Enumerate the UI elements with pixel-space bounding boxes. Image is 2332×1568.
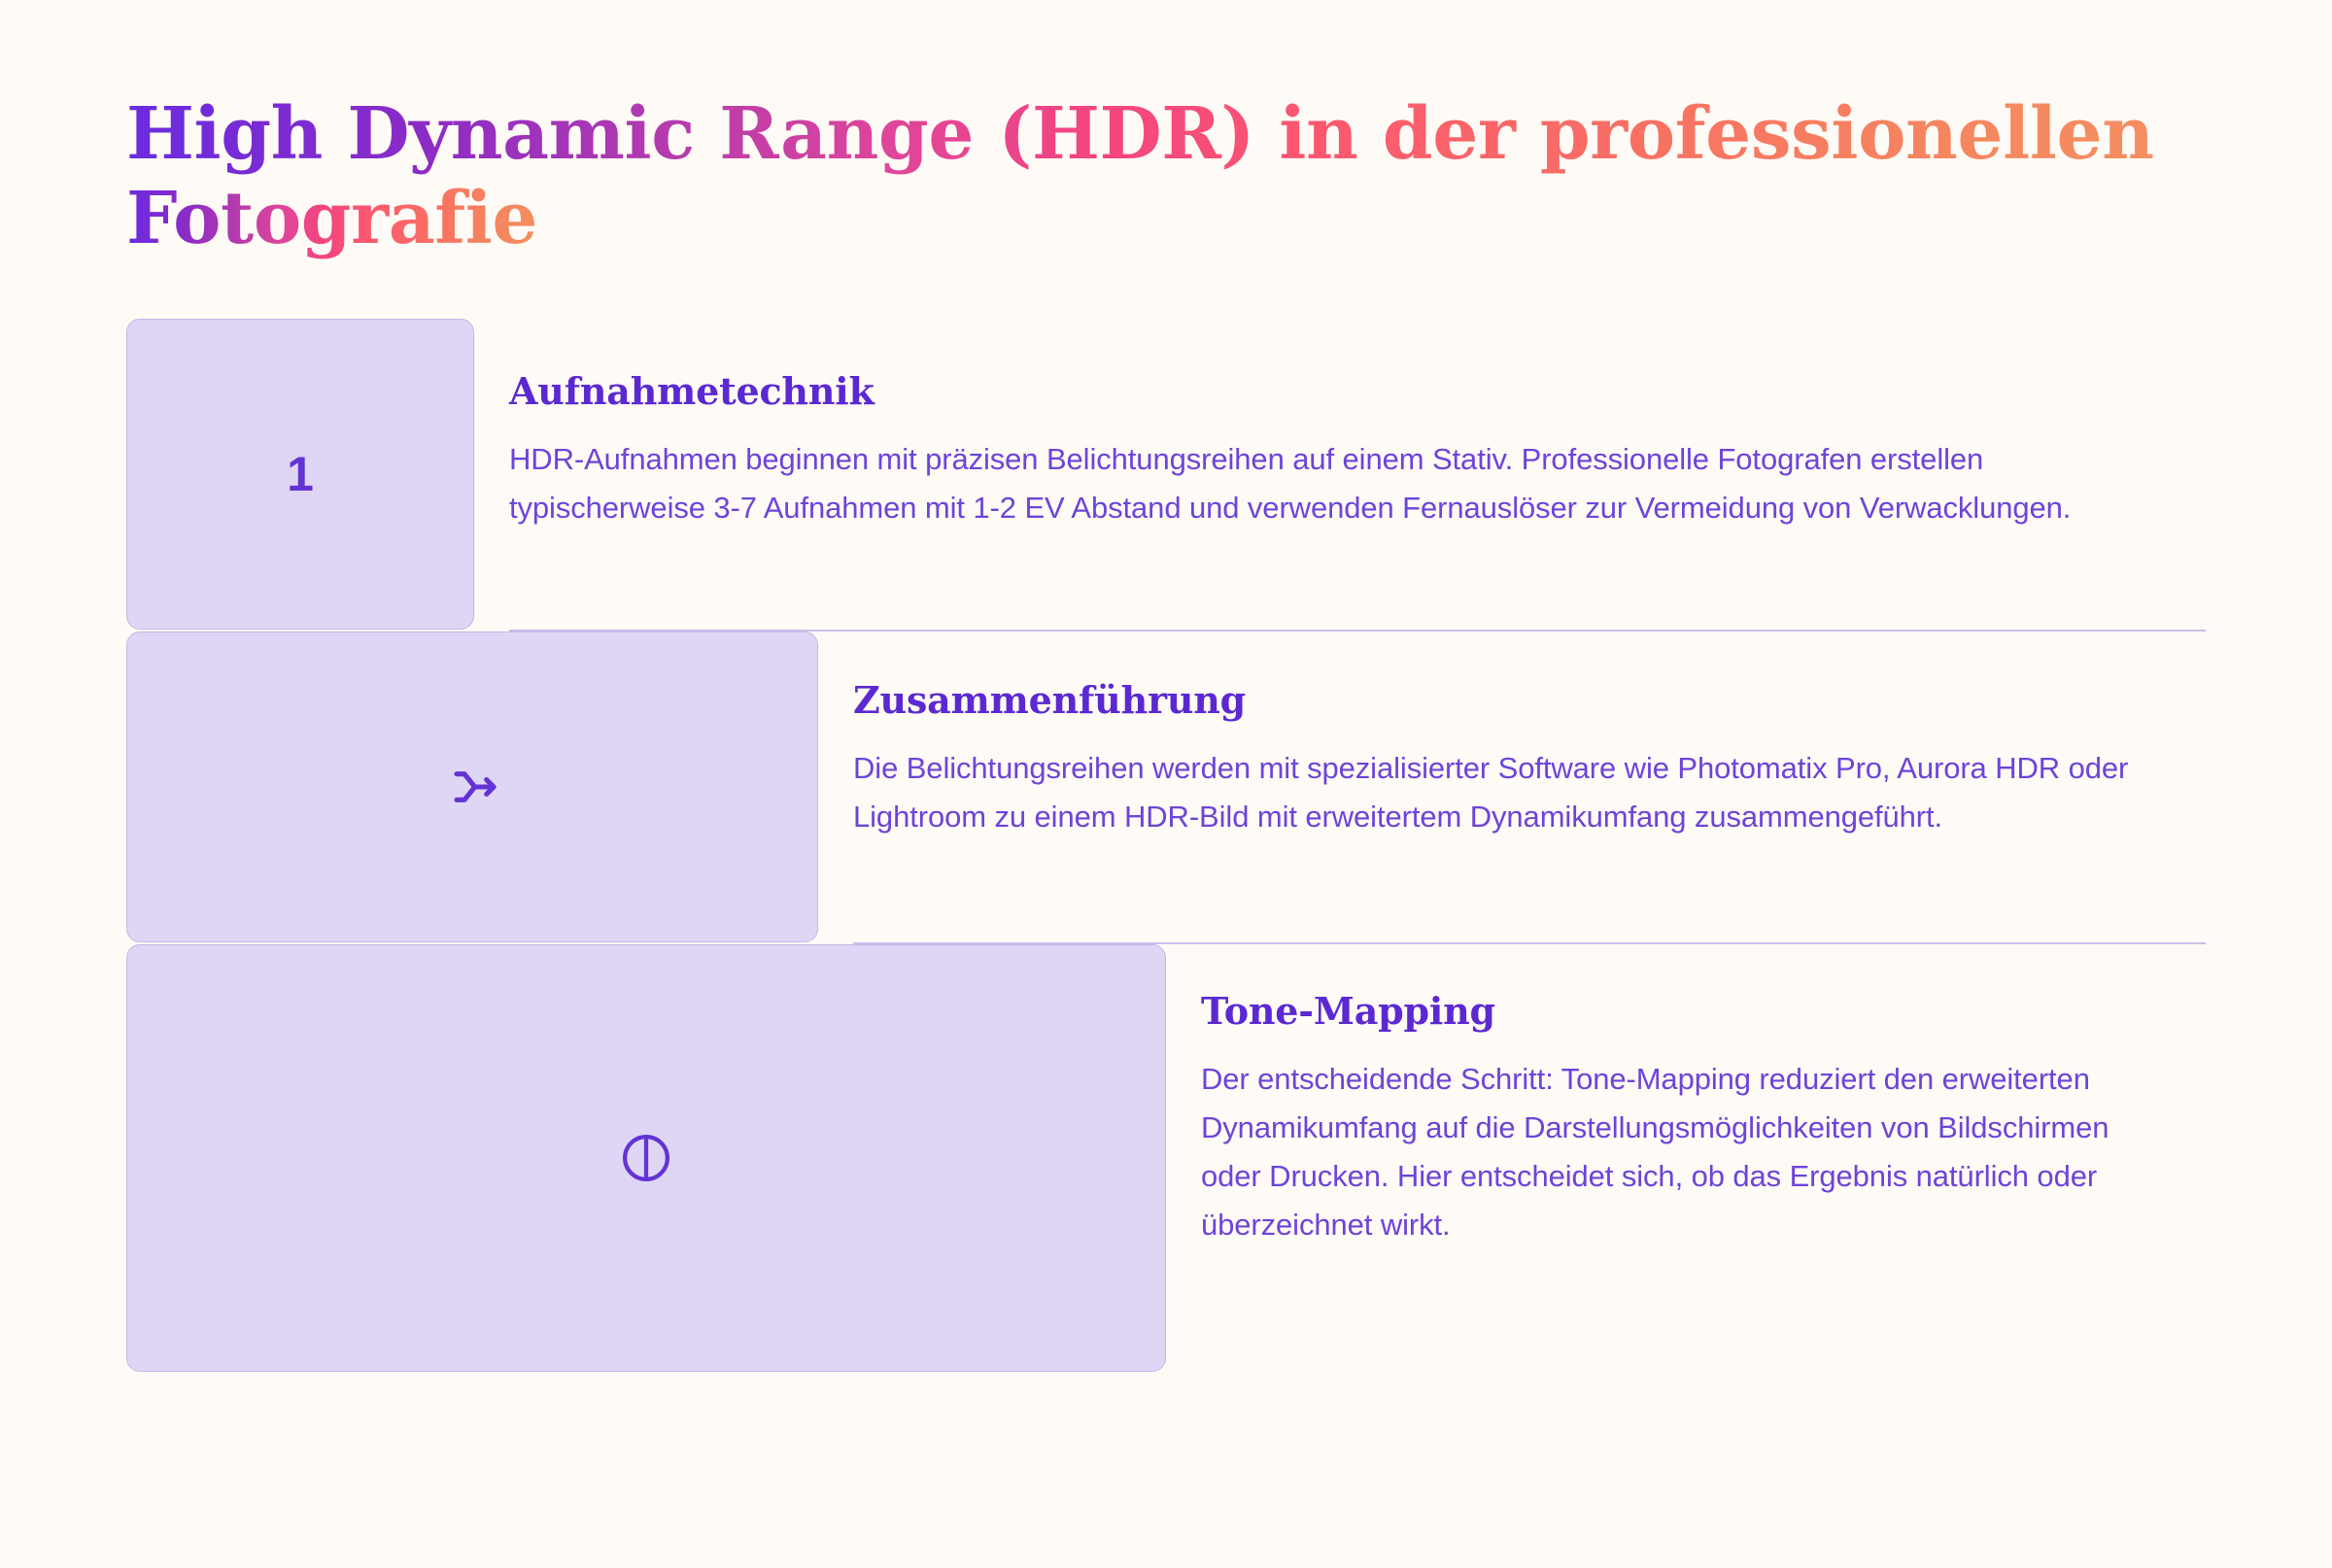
step-item: Zusammenführung Die Belichtungsreihen we… — [126, 631, 2206, 942]
page-title: High Dynamic Range (HDR) in der professi… — [126, 92, 2154, 260]
step-body: Der entscheidende Schritt: Tone-Mapping … — [1201, 1055, 2177, 1250]
step-body: HDR-Aufnahmen beginnen mit präzisen Beli… — [509, 435, 2177, 532]
step-content-2: Zusammenführung Die Belichtungsreihen we… — [818, 631, 2206, 841]
step-content-3: Tone-Mapping Der entscheidende Schritt: … — [1166, 944, 2206, 1249]
step-number-badge: 1 — [287, 450, 314, 498]
contrast-circle-icon — [615, 1127, 677, 1189]
step-heading: Tone-Mapping — [1201, 989, 2177, 1034]
step-media-1: 1 — [126, 319, 474, 630]
step-content-1: Aufnahmetechnik HDR-Aufnahmen beginnen m… — [474, 319, 2206, 532]
merge-arrows-icon — [441, 756, 503, 818]
step-item: Tone-Mapping Der entscheidende Schritt: … — [126, 944, 2206, 1372]
steps-list: 1 Aufnahmetechnik HDR-Aufnahmen beginnen… — [126, 319, 2206, 1372]
page-title-wrap: High Dynamic Range (HDR) in der professi… — [126, 92, 2215, 260]
step-item: 1 Aufnahmetechnik HDR-Aufnahmen beginnen… — [126, 319, 2206, 630]
step-media-3 — [126, 944, 1166, 1372]
step-heading: Aufnahmetechnik — [509, 369, 2177, 414]
step-heading: Zusammenführung — [853, 678, 2177, 723]
step-media-2 — [126, 631, 818, 942]
step-body: Die Belichtungsreihen werden mit spezial… — [853, 744, 2177, 841]
page-root: High Dynamic Range (HDR) in der professi… — [0, 0, 2332, 1568]
